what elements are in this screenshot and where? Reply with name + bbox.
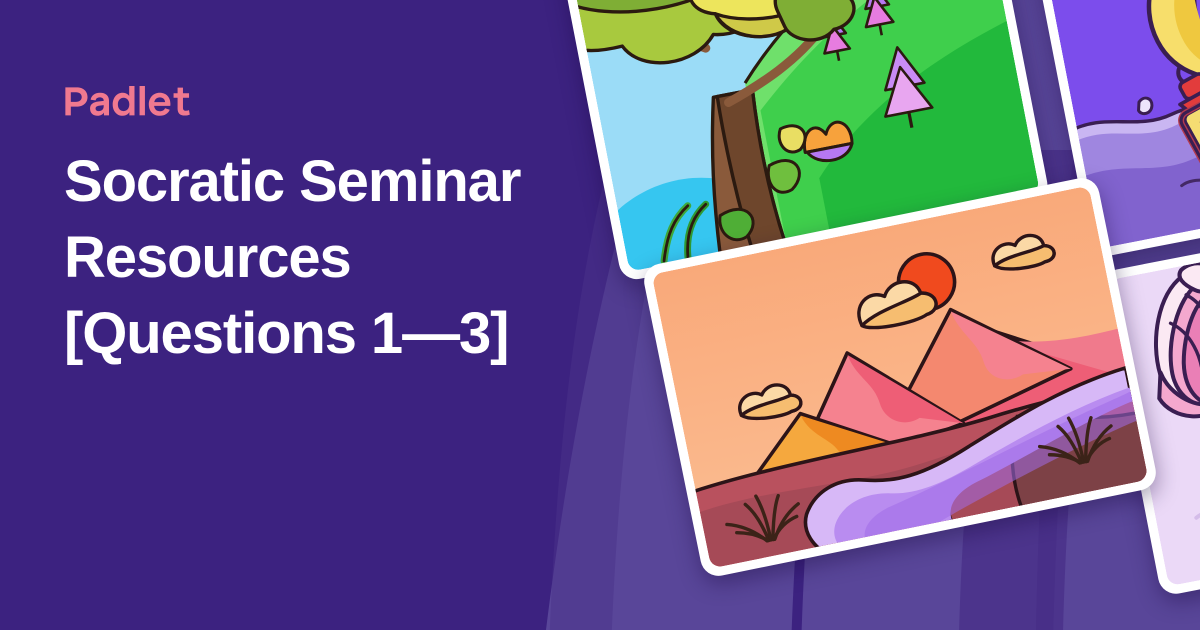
text-panel: Socratic SeminarResources[Questions 1—3] [64,86,604,372]
headline-line-2: Resources [64,225,351,290]
share-card-canvas: Socratic SeminarResources[Questions 1—3] [0,0,1200,630]
headline-line-3: [Questions 1—3] [64,301,508,366]
headline-line-1: Socratic Seminar [64,149,520,214]
page-title: Socratic SeminarResources[Questions 1—3] [64,144,604,372]
padlet-logo[interactable] [64,86,204,116]
